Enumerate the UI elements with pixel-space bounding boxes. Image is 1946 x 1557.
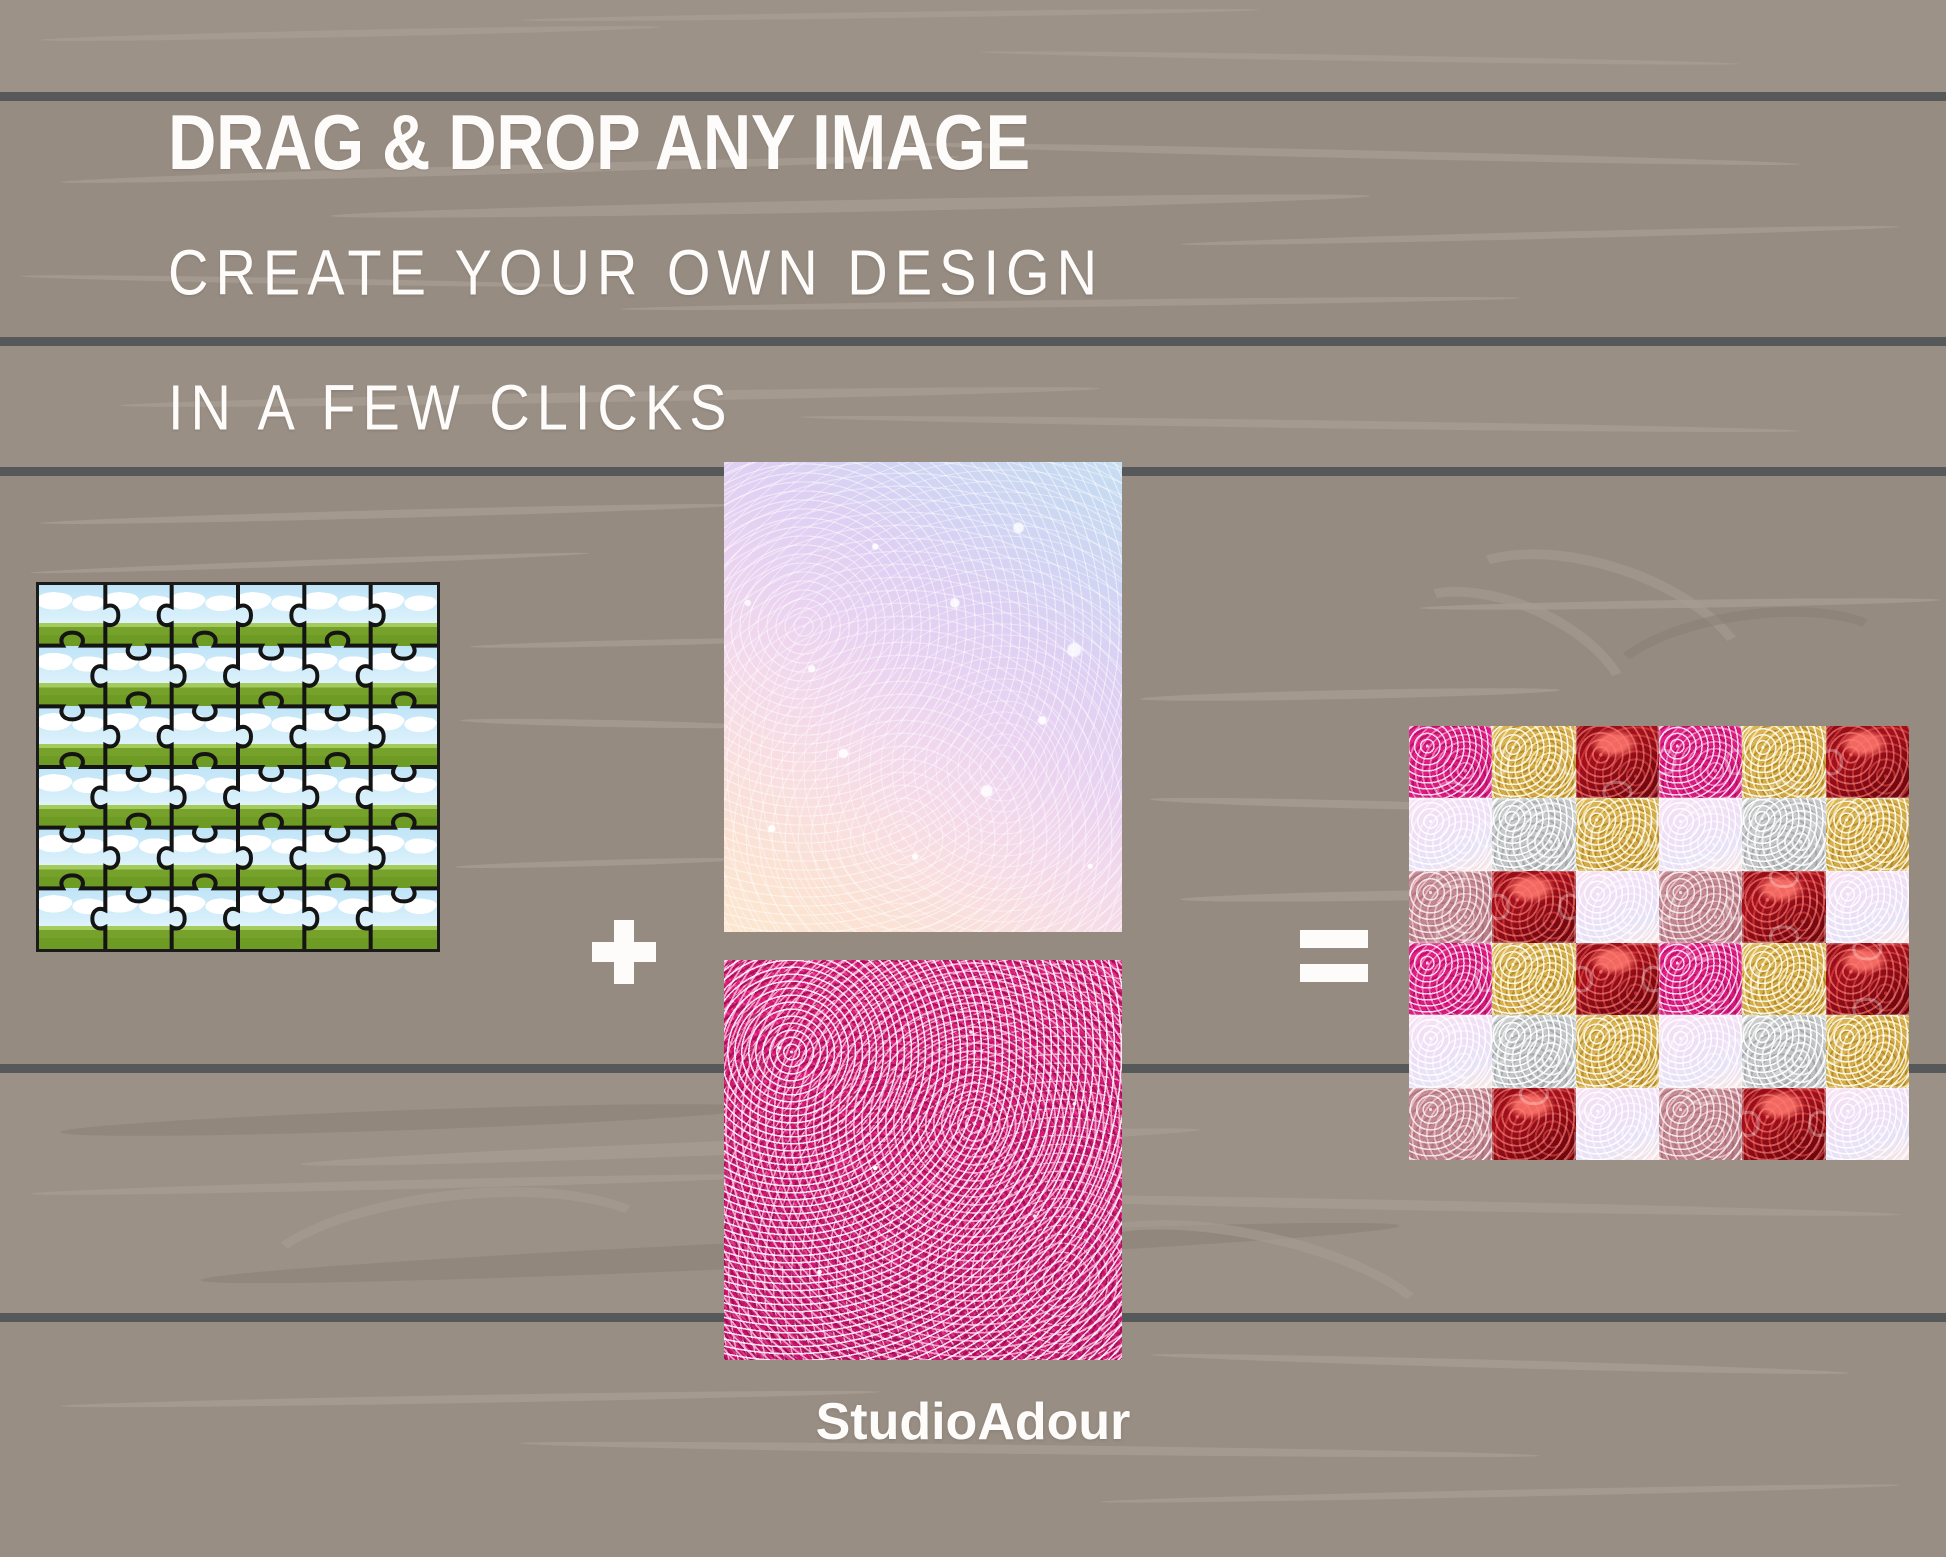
puzzle-piece-silver	[1742, 798, 1825, 870]
landscape-tile	[304, 585, 370, 646]
landscape-tile	[172, 828, 238, 889]
puzzle-piece-darkred	[1576, 943, 1659, 1015]
landscape-tile	[238, 828, 304, 889]
puzzle-piece-lilac	[1409, 798, 1492, 870]
landscape-tile	[304, 646, 370, 707]
puzzle-piece-lilac	[1826, 1088, 1909, 1160]
equals-operator-icon	[1300, 930, 1368, 982]
puzzle-piece-magenta	[1409, 943, 1492, 1015]
puzzle-piece-magenta	[1659, 943, 1742, 1015]
landscape-tile	[238, 646, 304, 707]
landscape-tile	[371, 646, 437, 707]
puzzle-piece-gold	[1826, 1015, 1909, 1087]
landscape-tile	[172, 646, 238, 707]
landscape-tile	[105, 646, 171, 707]
landscape-tile	[172, 767, 238, 828]
landscape-tile	[39, 888, 105, 949]
puzzle-piece-gold	[1492, 943, 1575, 1015]
puzzle-piece-rose	[1659, 871, 1742, 943]
puzzle-piece-darkred	[1742, 1088, 1825, 1160]
landscape-tile	[39, 828, 105, 889]
landscape-tile	[172, 706, 238, 767]
landscape-tile	[238, 888, 304, 949]
puzzle-piece-darkred	[1492, 871, 1575, 943]
puzzle-piece-gold	[1826, 798, 1909, 870]
subheading-line-2: IN A FEW CLICKS	[168, 370, 734, 444]
puzzle-piece-lilac	[1659, 1015, 1742, 1087]
texture-pastel-bokeh[interactable]	[724, 462, 1122, 932]
puzzle-piece-rose	[1409, 1088, 1492, 1160]
promo-canvas: DRAG & DROP ANY IMAGE CREATE YOUR OWN DE…	[0, 0, 1946, 1557]
puzzle-piece-lilac	[1826, 871, 1909, 943]
puzzle-piece-darkred	[1492, 1088, 1575, 1160]
subheading-line-1: CREATE YOUR OWN DESIGN	[168, 235, 1104, 309]
landscape-tile	[238, 767, 304, 828]
landscape-tile	[371, 888, 437, 949]
source-puzzle-preview[interactable]	[36, 582, 440, 952]
puzzle-piece-gold	[1742, 726, 1825, 798]
landscape-tile-grid	[39, 585, 437, 949]
landscape-tile	[304, 828, 370, 889]
landscape-tile	[238, 585, 304, 646]
landscape-tile	[304, 767, 370, 828]
puzzle-piece-darkred	[1826, 943, 1909, 1015]
puzzle-piece-lilac	[1659, 798, 1742, 870]
puzzle-piece-darkred	[1576, 726, 1659, 798]
landscape-tile	[39, 585, 105, 646]
landscape-tile	[105, 585, 171, 646]
puzzle-piece-magenta	[1409, 726, 1492, 798]
puzzle-piece-magenta	[1659, 726, 1742, 798]
result-puzzle-preview[interactable]	[1409, 726, 1909, 1160]
puzzle-piece-lilac	[1576, 871, 1659, 943]
landscape-tile	[105, 767, 171, 828]
texture-pink-glitter[interactable]	[724, 960, 1122, 1360]
landscape-tile	[371, 767, 437, 828]
landscape-tile	[304, 706, 370, 767]
plank-seam	[0, 337, 1946, 346]
puzzle-piece-darkred	[1826, 726, 1909, 798]
plus-operator-icon	[592, 920, 656, 984]
puzzle-piece-silver	[1492, 798, 1575, 870]
landscape-tile	[172, 585, 238, 646]
puzzle-piece-rose	[1659, 1088, 1742, 1160]
landscape-tile	[172, 888, 238, 949]
puzzle-piece-lilac	[1409, 1015, 1492, 1087]
result-piece-grid	[1409, 726, 1909, 1160]
page-title: DRAG & DROP ANY IMAGE	[168, 97, 1030, 188]
landscape-tile	[238, 706, 304, 767]
puzzle-piece-silver	[1742, 1015, 1825, 1087]
puzzle-piece-gold	[1492, 726, 1575, 798]
landscape-tile	[39, 767, 105, 828]
landscape-tile	[105, 888, 171, 949]
landscape-tile	[371, 828, 437, 889]
puzzle-piece-lilac	[1576, 1088, 1659, 1160]
puzzle-piece-gold	[1576, 798, 1659, 870]
landscape-tile	[371, 585, 437, 646]
puzzle-piece-silver	[1492, 1015, 1575, 1087]
landscape-tile	[39, 646, 105, 707]
landscape-tile	[105, 828, 171, 889]
puzzle-piece-gold	[1576, 1015, 1659, 1087]
landscape-tile	[39, 706, 105, 767]
landscape-tile	[105, 706, 171, 767]
puzzle-piece-gold	[1742, 943, 1825, 1015]
brand-name: StudioAdour	[0, 1392, 1946, 1452]
puzzle-piece-rose	[1409, 871, 1492, 943]
landscape-tile	[371, 706, 437, 767]
landscape-tile	[304, 888, 370, 949]
puzzle-piece-darkred	[1742, 871, 1825, 943]
